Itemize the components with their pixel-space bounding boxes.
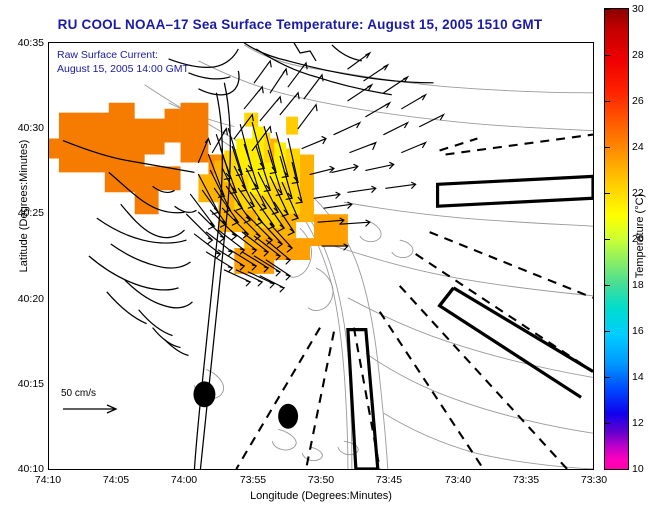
station-1 [193, 381, 215, 407]
xtick-7: 73:35 [513, 474, 539, 486]
cbmark-10 [604, 469, 610, 470]
cbtick-14: 14 [632, 371, 644, 383]
map-plot-area[interactable]: Raw Surface Current: August 15, 2005 14:… [48, 42, 594, 470]
vector-scale-legend: 50 cm/s [61, 388, 123, 416]
current-annotation: Raw Surface Current: August 15, 2005 14:… [57, 48, 189, 76]
sst-patch-raritan-east [181, 103, 209, 163]
cbtick-10: 10 [632, 463, 644, 475]
xtick-6: 73:40 [445, 474, 471, 486]
station-2 [278, 404, 298, 429]
cbmark-1 [604, 55, 610, 56]
figure-title: RU COOL NOAA–17 Sea Surface Temperature:… [0, 17, 600, 32]
y-axis-label: Latitude (Degrees:Minutes) [18, 96, 30, 316]
cbtick-12: 12 [632, 417, 644, 429]
sst-pixels [49, 103, 348, 274]
cbmark-6 [604, 285, 610, 286]
lane-vertical [348, 330, 378, 469]
ytick-5: 40:10 [18, 463, 44, 475]
cbmark-5 [604, 239, 610, 240]
annotation-line-2: August 15, 2005 14:00 GMT [57, 62, 189, 76]
sst-patch-dot-b [286, 117, 298, 135]
cbtick-26: 26 [632, 95, 644, 107]
x-axis-label: Longitude (Degrees:Minutes) [48, 490, 594, 502]
cbmark-9 [604, 423, 610, 424]
cbtick-30: 30 [632, 3, 644, 15]
cbmark-0 [604, 9, 610, 10]
cbmark-3 [604, 147, 610, 148]
sst-map-figure: RU COOL NOAA–17 Sea Surface Temperature:… [0, 0, 651, 518]
cbmark-8 [604, 377, 610, 378]
xtick-8: 73:30 [581, 474, 607, 486]
cbtick-16: 16 [632, 325, 644, 337]
annotation-line-1: Raw Surface Current: [57, 48, 189, 62]
cbtick-24: 24 [632, 141, 644, 153]
lane-lower [440, 288, 593, 397]
cbmark-2 [604, 101, 610, 102]
vector-scale-arrow-icon [61, 402, 123, 416]
cbmark-7 [604, 331, 610, 332]
station-markers [193, 381, 298, 428]
sst-patch-dot-a [244, 113, 258, 127]
cbtick-28: 28 [632, 49, 644, 61]
xtick-0: 74:10 [35, 474, 61, 486]
xtick-1: 74:05 [103, 474, 129, 486]
map-graphics [49, 43, 593, 469]
xtick-2: 74:00 [171, 474, 197, 486]
bathymetry-contours [81, 45, 593, 469]
lane-upper [438, 176, 593, 206]
xtick-4: 73:50 [308, 474, 334, 486]
xtick-3: 73:55 [240, 474, 266, 486]
lane-diagonal [440, 288, 454, 306]
ytick-4: 40:15 [18, 378, 44, 390]
xtick-5: 73:45 [376, 474, 402, 486]
colorbar-label: Temperature (°C) [634, 156, 646, 316]
ytick-0: 40:35 [18, 37, 44, 49]
vector-scale-label: 50 cm/s [61, 388, 123, 399]
cbmark-4 [604, 193, 610, 194]
